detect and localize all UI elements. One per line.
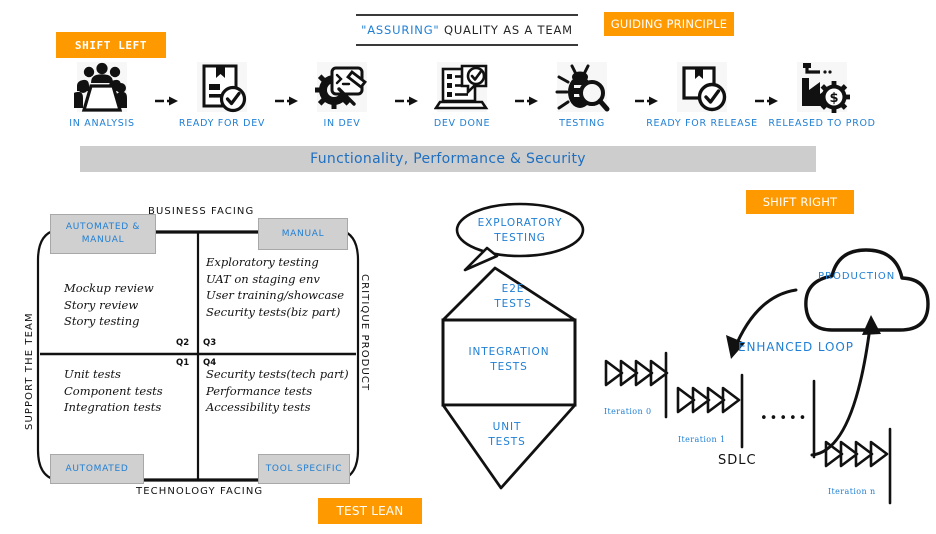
exploratory-testing-bubble: EXPLORATORY TESTING xyxy=(457,216,583,246)
laptop-checklist-approved-icon xyxy=(432,58,492,116)
pyramid-layer-unit: UNIT TESTS xyxy=(467,420,547,450)
list-item: UAT on staging env xyxy=(206,271,344,288)
enhanced-loop-label: ENHANCED LOOP xyxy=(738,340,854,354)
quadrant-q3-items: Exploratory testing UAT on staging env U… xyxy=(206,254,344,320)
iteration-label-0: Iteration 0 xyxy=(604,407,651,416)
box-check-icon xyxy=(672,58,732,116)
bubble-line-2: TESTING xyxy=(494,232,546,244)
quadrant-box-tool-specific: TOOL SPECIFIC xyxy=(258,454,350,484)
ellipsis-dots: ••••• xyxy=(760,411,808,426)
pipeline-stage-ready-for-dev[interactable]: READY FOR DEV xyxy=(174,58,270,140)
test-lean-badge[interactable]: TEST LEAN xyxy=(318,498,422,524)
pipeline-stage-label: DEV DONE xyxy=(434,118,490,129)
list-item: Mockup review xyxy=(64,280,154,297)
list-item: Component tests xyxy=(64,383,163,400)
shift-left-badge[interactable]: SHIFT LEFT xyxy=(56,32,166,58)
pyramid-layer-e2e: E2E TESTS xyxy=(473,282,553,312)
guiding-principle-badge[interactable]: GUIDING PRINCIPLE xyxy=(604,12,734,36)
quadrant-q1-items: Unit tests Component tests Integration t… xyxy=(64,366,163,416)
quadrant-box-manual: MANUAL xyxy=(258,218,348,250)
pipeline-stage-label: READY FOR DEV xyxy=(179,118,265,129)
page-title: "ASSURING" QUALITY AS A TEAM xyxy=(356,14,578,46)
list-item: Story testing xyxy=(64,313,154,330)
cloud-shape xyxy=(806,250,928,330)
pipeline-footer-bar: Functionality, Performance & Security xyxy=(80,146,816,172)
bug-magnifier-icon xyxy=(552,58,612,116)
quadrant-code-q1: Q1 xyxy=(176,358,189,368)
pyramid-e2e-line2: TESTS xyxy=(494,298,531,310)
sdlc-label: SDLC xyxy=(718,453,757,468)
quadrant-axis-technology-facing: TECHNOLOGY FACING xyxy=(136,486,263,497)
list-item: Security tests(biz part) xyxy=(206,304,344,321)
pyramid-e2e-line1: E2E xyxy=(502,283,525,295)
list-item: Story review xyxy=(64,297,154,314)
pipeline-stage-in-dev[interactable]: IN DEV xyxy=(294,58,390,140)
title-rule-bottom xyxy=(356,44,578,46)
bubble-line-1: EXPLORATORY xyxy=(478,217,563,229)
quadrant-code-q3: Q3 xyxy=(203,338,216,348)
quadrant-box-label-line1: AUTOMATED & xyxy=(66,222,140,232)
pipeline-stage-label: RELEASED TO PROD xyxy=(768,118,875,129)
pipeline-stage-label: IN DEV xyxy=(324,118,361,129)
list-item: Accessibility tests xyxy=(206,399,349,416)
pyramid-unit-line1: UNIT xyxy=(493,421,522,433)
page-title-text: "ASSURING" QUALITY AS A TEAM xyxy=(361,23,573,37)
list-item: Security tests(tech part) xyxy=(206,366,349,383)
test-pyramid: EXPLORATORY TESTING E2E TESTS INTEGRATIO… xyxy=(415,200,615,510)
testing-quadrant: AUTOMATED &MANUAL MANUAL AUTOMATED TOOL … xyxy=(18,202,378,502)
pipeline-footer-text: Functionality, Performance & Security xyxy=(310,151,586,167)
list-item: User training/showcase xyxy=(206,287,344,304)
quadrant-code-q2: Q2 xyxy=(176,338,189,348)
sdlc-section: PRODUCTION ENHANCED LOOP SDLC ••••• Iter… xyxy=(600,185,936,534)
pipeline-stage-label: TESTING xyxy=(559,118,605,129)
list-item: Integration tests xyxy=(64,399,163,416)
package-check-icon xyxy=(192,58,252,116)
page-title-quoted: "ASSURING" xyxy=(361,23,439,37)
production-label: PRODUCTION xyxy=(818,271,895,282)
pipeline-stage-released-to-prod[interactable]: $ RELEASED TO PROD xyxy=(774,58,870,140)
iteration-label-1: Iteration 1 xyxy=(678,435,725,444)
pyramid-integration-line1: INTEGRATION xyxy=(469,346,550,358)
list-item: Performance tests xyxy=(206,383,349,400)
pipeline-stage-in-analysis[interactable]: IN ANALYSIS xyxy=(54,58,150,140)
pyramid-unit-line2: TESTS xyxy=(488,436,525,448)
title-rule-top xyxy=(356,14,578,16)
quadrant-box-label-line2: MANUAL xyxy=(82,235,125,245)
list-item: Unit tests xyxy=(64,366,163,383)
page-title-rest: QUALITY AS A TEAM xyxy=(440,23,573,37)
factory-dollar-gear-icon: $ xyxy=(792,58,852,116)
meeting-table-people-icon xyxy=(72,58,132,116)
quadrant-box-automated-and-manual: AUTOMATED &MANUAL xyxy=(50,214,156,254)
quadrant-code-q4: Q4 xyxy=(203,358,216,368)
diagram-canvas: "ASSURING" QUALITY AS A TEAM GUIDING PRI… xyxy=(0,0,936,534)
quadrant-q2-items: Mockup review Story review Story testing xyxy=(64,280,154,330)
quadrant-box-automated: AUTOMATED xyxy=(50,454,144,484)
quadrant-axis-support-the-team: SUPPORT THE TEAM xyxy=(24,312,35,430)
quadrant-axis-business-facing: BUSINESS FACING xyxy=(148,206,254,217)
quadrant-q4-items: Security tests(tech part) Performance te… xyxy=(206,366,349,416)
pipeline-stage-dev-done[interactable]: DEV DONE xyxy=(414,58,510,140)
workflow-pipeline: IN ANALYSIS READY FOR DEV xyxy=(50,58,890,140)
pyramid-integration-line2: TESTS xyxy=(490,361,527,373)
pipeline-stage-label: READY FOR RELEASE xyxy=(646,118,758,129)
iteration-label-n: Iteration n xyxy=(828,487,876,496)
pipeline-stage-label: IN ANALYSIS xyxy=(69,118,134,129)
list-item: Exploratory testing xyxy=(206,254,344,271)
pipeline-stage-ready-for-release[interactable]: READY FOR RELEASE xyxy=(654,58,750,140)
pipeline-stage-testing[interactable]: TESTING xyxy=(534,58,630,140)
quadrant-axis-critique-product: CRITIQUE PRODUCT xyxy=(359,274,370,391)
pyramid-layer-integration: INTEGRATION TESTS xyxy=(449,345,569,375)
svg-text:$: $ xyxy=(829,91,838,106)
gear-terminal-hammer-icon xyxy=(312,58,372,116)
